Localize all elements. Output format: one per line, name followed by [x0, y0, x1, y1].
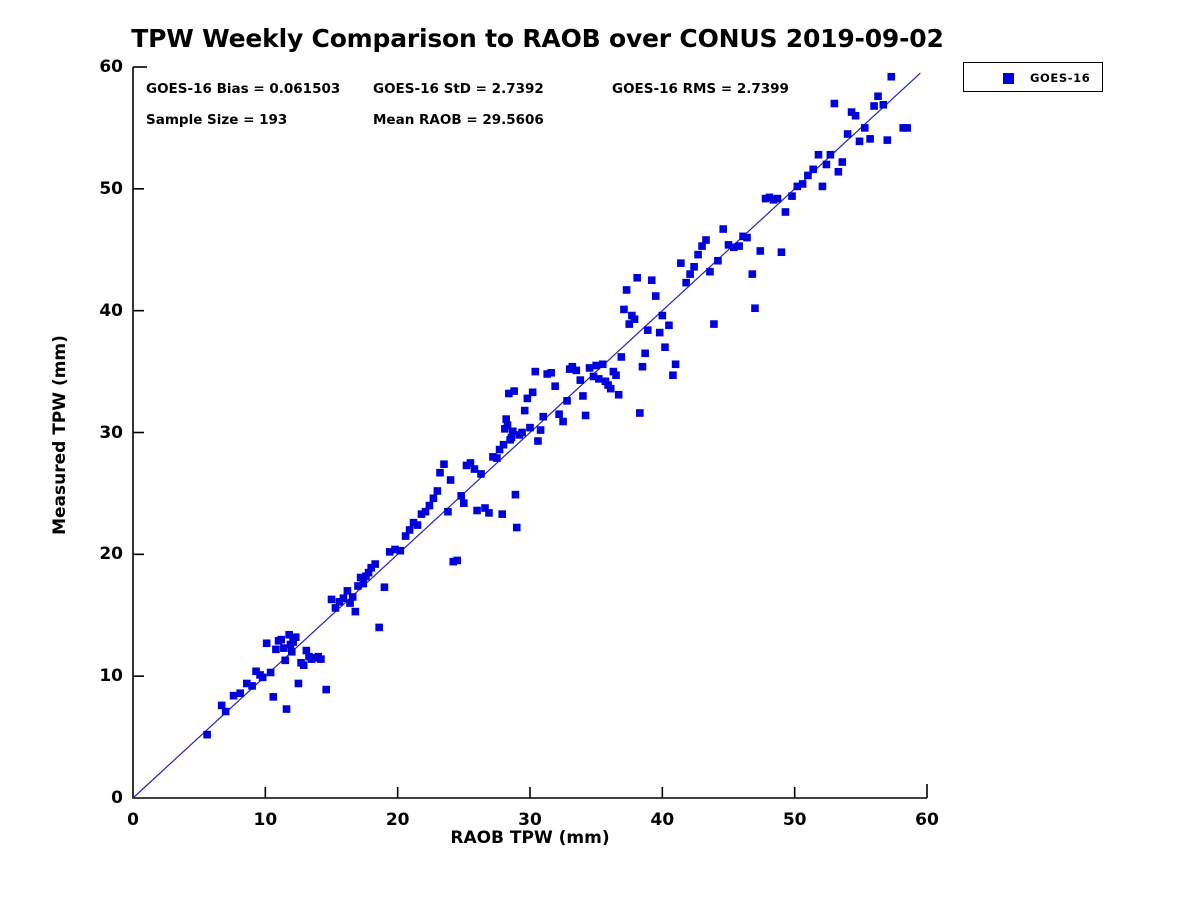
data-point: [644, 326, 652, 334]
data-point: [595, 375, 603, 383]
data-point: [576, 376, 584, 384]
data-point: [349, 593, 357, 601]
data-point: [607, 385, 615, 393]
data-point: [371, 560, 379, 568]
data-point: [510, 387, 518, 395]
data-point: [714, 257, 722, 265]
data-point: [719, 225, 727, 233]
data-point: [615, 391, 623, 399]
data-point: [436, 469, 444, 477]
data-point: [641, 350, 649, 358]
data-point: [612, 371, 620, 379]
data-point: [292, 633, 300, 641]
data-point: [677, 259, 685, 267]
data-point: [430, 494, 438, 502]
data-point: [340, 594, 348, 602]
y-tick-label: 40: [85, 301, 123, 321]
data-point: [823, 161, 831, 169]
data-point: [500, 441, 508, 449]
data-point: [288, 648, 296, 656]
data-point: [300, 661, 308, 669]
data-point: [537, 426, 545, 434]
data-point: [406, 526, 414, 534]
data-point: [285, 631, 293, 639]
data-point: [563, 397, 571, 405]
plot-canvas: [0, 0, 1200, 900]
data-point: [434, 487, 442, 495]
y-tick-label: 50: [85, 179, 123, 199]
data-point: [586, 364, 594, 372]
data-point: [579, 392, 587, 400]
y-tick-label: 10: [85, 666, 123, 686]
data-point: [414, 521, 422, 529]
data-point: [477, 470, 485, 478]
data-point: [263, 639, 271, 647]
x-tick-label: 50: [783, 810, 807, 830]
data-point: [295, 680, 303, 688]
data-point: [375, 624, 383, 632]
data-point: [819, 183, 827, 191]
y-tick-label: 60: [85, 57, 123, 77]
data-point: [659, 312, 667, 320]
data-point: [485, 509, 493, 517]
data-point: [835, 168, 843, 176]
data-point: [230, 692, 238, 700]
data-point: [831, 100, 839, 108]
data-point: [359, 580, 367, 588]
data-point: [887, 73, 895, 81]
data-point: [547, 369, 555, 377]
y-tick-label: 0: [85, 788, 123, 808]
data-point: [236, 689, 244, 697]
data-point: [381, 583, 389, 591]
scatter-plot-figure: TPW Weekly Comparison to RAOB over CONUS…: [0, 0, 1200, 900]
x-tick-label: 0: [127, 810, 139, 830]
data-point: [852, 112, 860, 120]
x-tick-label: 10: [253, 810, 277, 830]
data-point: [269, 693, 277, 701]
data-point: [280, 644, 288, 652]
x-tick-label: 60: [915, 810, 939, 830]
data-point: [774, 195, 782, 203]
data-point: [672, 360, 680, 368]
data-point: [656, 329, 664, 337]
data-point: [272, 646, 280, 654]
data-point: [281, 657, 289, 665]
data-point: [513, 524, 521, 532]
data-point: [352, 608, 360, 616]
data-point: [573, 367, 581, 375]
data-point: [592, 362, 600, 370]
data-point: [397, 547, 405, 555]
data-point: [426, 502, 434, 510]
data-point: [534, 437, 542, 445]
data-point: [599, 360, 607, 368]
data-point: [743, 234, 751, 242]
data-point: [222, 708, 230, 716]
data-point: [447, 476, 455, 484]
data-point: [539, 413, 547, 421]
data-point: [749, 270, 757, 278]
data-point: [815, 151, 823, 159]
data-point: [283, 705, 291, 713]
data-point: [706, 268, 714, 276]
data-point: [665, 321, 673, 329]
data-point: [551, 382, 559, 390]
data-point: [652, 292, 660, 300]
data-point: [512, 491, 520, 499]
data-point: [531, 368, 539, 376]
data-point: [782, 208, 790, 216]
data-point: [328, 596, 336, 604]
legend-marker-icon: [1003, 73, 1014, 84]
data-point: [526, 424, 534, 432]
data-point: [203, 731, 211, 739]
data-point: [856, 138, 864, 146]
data-point: [639, 363, 647, 371]
data-point: [844, 130, 852, 138]
legend-label: GOES-16: [1030, 71, 1090, 85]
data-point: [631, 315, 639, 323]
data-point: [661, 343, 669, 351]
data-point: [471, 465, 479, 473]
data-point: [521, 407, 529, 415]
data-point: [839, 158, 847, 166]
data-point: [618, 353, 626, 361]
data-point: [460, 499, 468, 507]
data-point: [559, 418, 567, 426]
data-point: [903, 124, 911, 132]
data-point: [322, 686, 330, 694]
data-point: [529, 388, 537, 396]
data-point: [861, 124, 869, 132]
x-tick-label: 30: [518, 810, 542, 830]
data-point: [498, 510, 506, 518]
data-point: [694, 251, 702, 259]
data-point: [518, 429, 526, 437]
data-point: [686, 270, 694, 278]
data-point: [809, 166, 817, 174]
data-point: [880, 101, 888, 109]
data-point: [690, 263, 698, 271]
data-point: [751, 304, 759, 312]
data-point: [493, 454, 501, 462]
data-point: [884, 136, 892, 144]
data-point: [457, 492, 465, 500]
data-point-series-goes16: [203, 73, 911, 739]
data-point: [440, 460, 448, 468]
data-point: [248, 682, 256, 690]
y-tick-label: 20: [85, 544, 123, 564]
data-point: [623, 286, 631, 294]
data-point: [669, 371, 677, 379]
data-point: [633, 274, 641, 282]
data-point: [277, 636, 285, 644]
data-point: [702, 236, 710, 244]
data-point: [874, 92, 882, 100]
data-point: [648, 276, 656, 284]
data-point: [756, 247, 764, 255]
legend[interactable]: GOES-16: [963, 62, 1103, 92]
data-point: [778, 248, 786, 256]
y-axis-label: Measured TPW (mm): [50, 195, 70, 675]
y-tick-label: 30: [85, 423, 123, 443]
data-point: [735, 242, 743, 250]
data-point: [444, 508, 452, 516]
x-tick-label: 40: [650, 810, 674, 830]
data-point: [267, 669, 275, 677]
data-point: [555, 410, 563, 418]
x-tick-label: 20: [386, 810, 410, 830]
data-point: [473, 507, 481, 515]
data-point: [710, 320, 718, 328]
data-point: [259, 674, 267, 682]
data-point: [453, 557, 461, 565]
x-axis-label: RAOB TPW (mm): [133, 828, 927, 848]
data-point: [870, 102, 878, 110]
data-point: [317, 655, 325, 663]
data-point: [582, 412, 590, 420]
data-point: [827, 151, 835, 159]
data-point: [866, 135, 874, 143]
data-point: [788, 192, 796, 200]
data-point: [620, 306, 628, 314]
data-point: [682, 279, 690, 287]
data-point: [509, 427, 517, 435]
data-point: [636, 409, 644, 417]
data-point: [799, 180, 807, 188]
